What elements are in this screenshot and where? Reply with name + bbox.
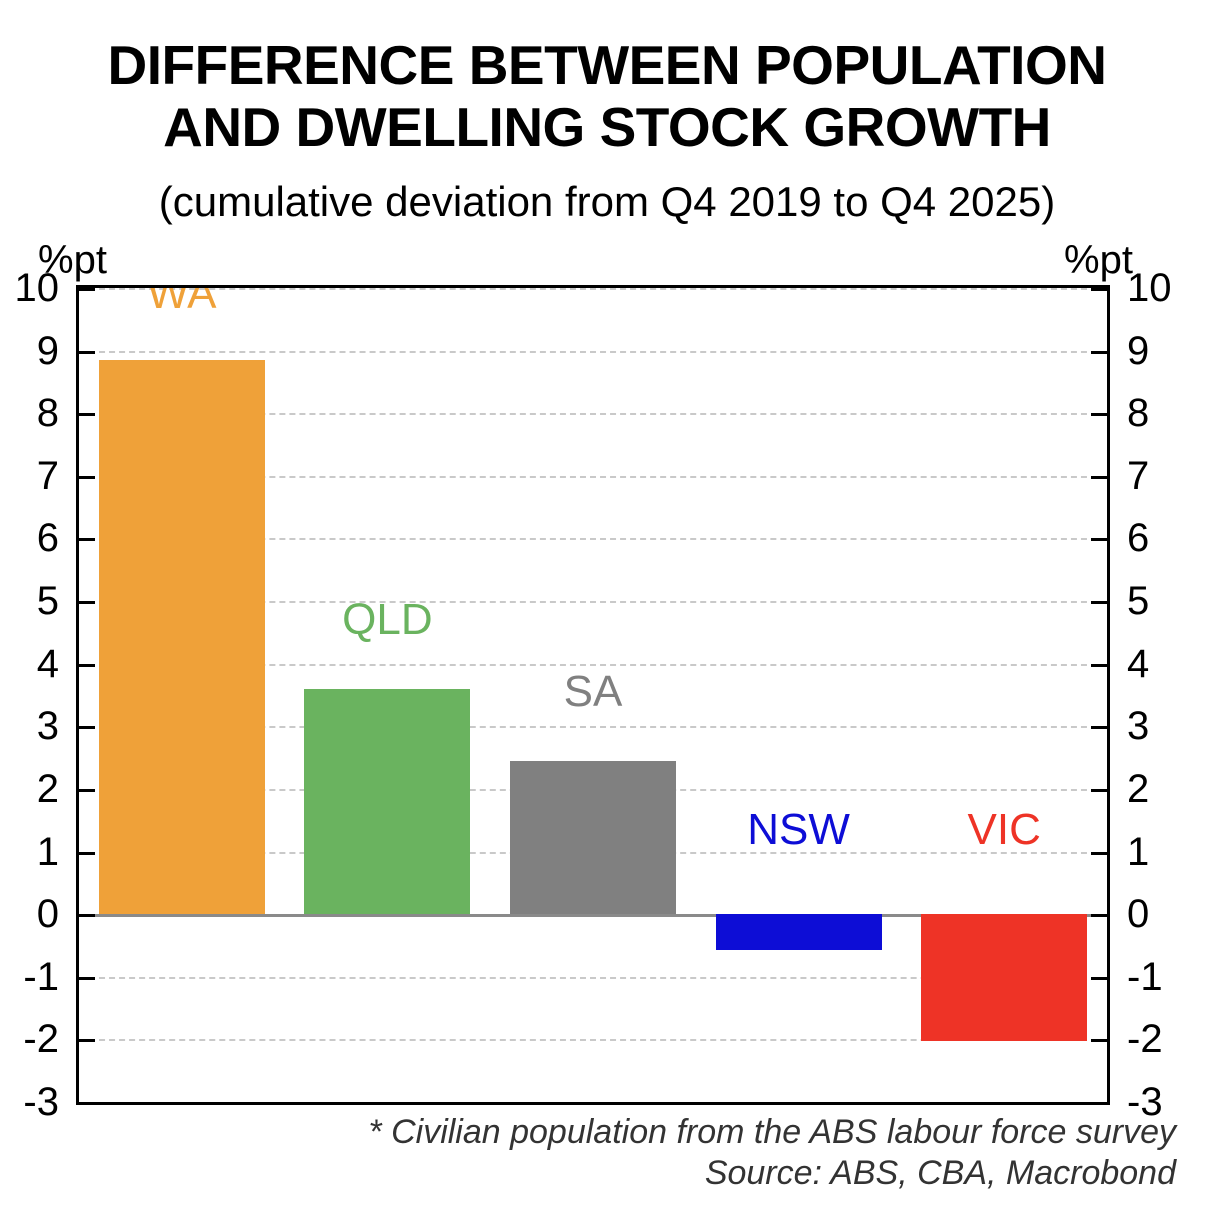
- right-axis-tick: [1091, 601, 1107, 604]
- right-axis-tick-label: 7: [1127, 456, 1214, 496]
- left-axis-tick-label: 9: [0, 331, 59, 371]
- right-axis-tick-label: 8: [1127, 393, 1214, 433]
- left-axis-tick-label: 5: [0, 581, 59, 621]
- right-axis-tick: [1091, 351, 1107, 354]
- chart-title: DIFFERENCE BETWEEN POPULATION AND DWELLI…: [0, 34, 1214, 158]
- series-label-wa: WA: [79, 288, 305, 316]
- left-axis-tick: [79, 726, 95, 729]
- left-axis-tick-label: 1: [0, 832, 59, 872]
- gridline: [79, 351, 1107, 353]
- left-axis-tick-label: 3: [0, 706, 59, 746]
- right-axis-tick: [1091, 413, 1107, 416]
- left-axis-tick-label: 8: [0, 393, 59, 433]
- left-axis-tick-label: 2: [0, 769, 59, 809]
- right-axis-tick: [1091, 1039, 1107, 1042]
- left-axis-tick: [79, 789, 95, 792]
- left-axis-tick: [79, 351, 95, 354]
- right-axis-tick-label: 1: [1127, 832, 1214, 872]
- right-axis-tick-label: 2: [1127, 769, 1214, 809]
- left-axis-tick: [79, 601, 95, 604]
- series-label-qld: QLD: [264, 598, 510, 642]
- bar-nsw[interactable]: [716, 914, 882, 950]
- left-axis-tick-label: -2: [0, 1019, 59, 1059]
- right-axis-tick: [1091, 977, 1107, 980]
- right-axis-tick: [1091, 476, 1107, 479]
- right-axis-tick: [1091, 789, 1107, 792]
- left-axis-tick-label: 7: [0, 456, 59, 496]
- right-axis-tick-label: 0: [1127, 894, 1214, 934]
- right-axis-tick: [1091, 914, 1107, 917]
- right-axis-tick-label: 4: [1127, 644, 1214, 684]
- left-axis-tick-label: 6: [0, 518, 59, 558]
- chart-plot-inner: WAQLDSANSWVIC: [79, 288, 1107, 1102]
- chart-subtitle: (cumulative deviation from Q4 2019 to Q4…: [0, 178, 1214, 226]
- left-axis-tick-label: 4: [0, 644, 59, 684]
- right-axis-tick-label: 5: [1127, 581, 1214, 621]
- left-axis-tick-label: 0: [0, 894, 59, 934]
- left-axis-tick: [79, 413, 95, 416]
- bar-vic[interactable]: [921, 914, 1087, 1041]
- series-label-sa: SA: [470, 670, 716, 714]
- right-axis-tick: [1091, 288, 1107, 291]
- left-axis-tick: [79, 664, 95, 667]
- bar-sa[interactable]: [510, 761, 676, 914]
- left-axis-tick: [79, 914, 95, 917]
- left-axis-tick: [79, 476, 95, 479]
- right-axis-tick: [1091, 664, 1107, 667]
- bar-wa[interactable]: [99, 360, 265, 914]
- right-axis-tick-label: 3: [1127, 706, 1214, 746]
- series-label-vic: VIC: [881, 808, 1107, 852]
- footnote-note: * Civilian population from the ABS labou…: [0, 1112, 1176, 1153]
- chart-plot-area: WAQLDSANSWVIC 101099887766554433221100-1…: [76, 285, 1110, 1105]
- left-axis-tick: [79, 977, 95, 980]
- left-axis-tick: [79, 852, 95, 855]
- right-axis-unit-label: %pt: [1064, 238, 1133, 282]
- left-axis-tick-label: 10: [0, 268, 59, 308]
- right-axis-tick-label: 6: [1127, 518, 1214, 558]
- left-axis-tick: [79, 538, 95, 541]
- right-axis-tick-label: 10: [1127, 268, 1214, 308]
- bar-qld[interactable]: [304, 689, 470, 914]
- chart-title-line-1: DIFFERENCE BETWEEN POPULATION: [0, 34, 1214, 96]
- right-axis-tick: [1091, 538, 1107, 541]
- chart-footnotes: * Civilian population from the ABS labou…: [0, 1112, 1176, 1194]
- right-axis-tick: [1091, 852, 1107, 855]
- chart-title-line-2: AND DWELLING STOCK GROWTH: [0, 96, 1214, 158]
- right-axis-tick: [1091, 726, 1107, 729]
- right-axis-tick-label: -1: [1127, 957, 1214, 997]
- footnote-source: Source: ABS, CBA, Macrobond: [0, 1153, 1176, 1194]
- right-axis-tick-label: 9: [1127, 331, 1214, 371]
- left-axis-tick-label: -1: [0, 957, 59, 997]
- left-axis-tick: [79, 1039, 95, 1042]
- right-axis-tick-label: -2: [1127, 1019, 1214, 1059]
